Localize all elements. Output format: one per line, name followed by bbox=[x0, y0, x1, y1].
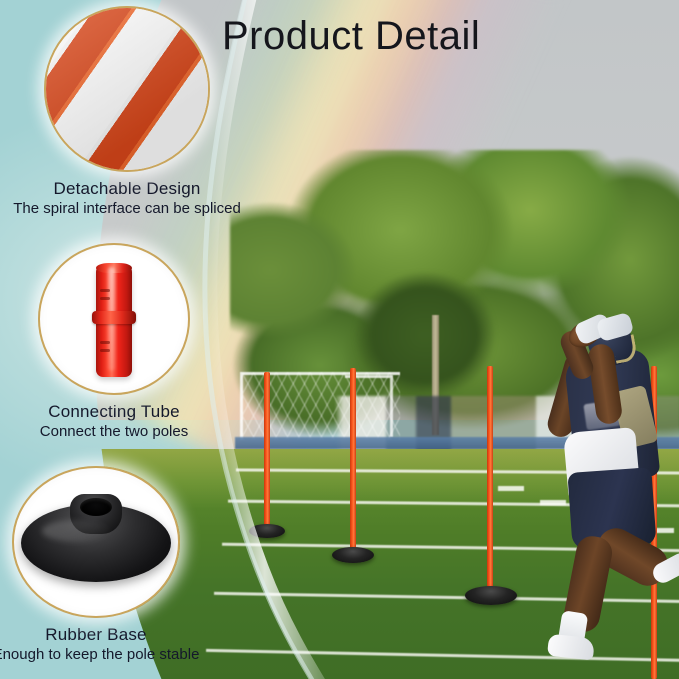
feature-subtitle: Enough to keep the pole stable bbox=[0, 646, 216, 663]
tube-center-band bbox=[92, 311, 136, 324]
tube-ridge bbox=[100, 341, 110, 344]
agility-pole bbox=[487, 366, 493, 594]
feature-connecting-tube: Connecting Tube Connect the two poles bbox=[0, 243, 234, 440]
rubber-base bbox=[465, 586, 517, 605]
striped-pole-icon bbox=[44, 6, 210, 172]
page-title: Product Detail bbox=[222, 14, 480, 59]
base-highlight bbox=[42, 520, 112, 542]
agility-pole bbox=[350, 368, 356, 554]
feature-rubber-base: Rubber Base Enough to keep the pole stab… bbox=[0, 466, 216, 663]
stripe-shading bbox=[46, 8, 208, 170]
connecting-tube-icon bbox=[38, 243, 190, 395]
base-socket-hole bbox=[80, 498, 112, 516]
rubber-base bbox=[249, 524, 285, 538]
hash-mark bbox=[498, 486, 524, 491]
product-detail-image: Product Detail Detachable Design The spi… bbox=[0, 0, 679, 679]
tube-ridge bbox=[100, 349, 110, 352]
rubber-base-icon bbox=[12, 466, 180, 618]
feature-detachable-design: Detachable Design The spiral interface c… bbox=[7, 6, 247, 217]
hash-mark bbox=[540, 500, 566, 505]
feature-title: Rubber Base bbox=[0, 625, 216, 645]
tube-ridge bbox=[100, 289, 110, 292]
rubber-base bbox=[332, 547, 374, 563]
tube-ridge bbox=[100, 297, 110, 300]
agility-pole bbox=[264, 372, 270, 530]
feature-subtitle: Connect the two poles bbox=[0, 423, 234, 440]
feature-subtitle: The spiral interface can be spliced bbox=[7, 200, 247, 217]
feature-title: Connecting Tube bbox=[0, 402, 234, 422]
feature-title: Detachable Design bbox=[7, 179, 247, 199]
